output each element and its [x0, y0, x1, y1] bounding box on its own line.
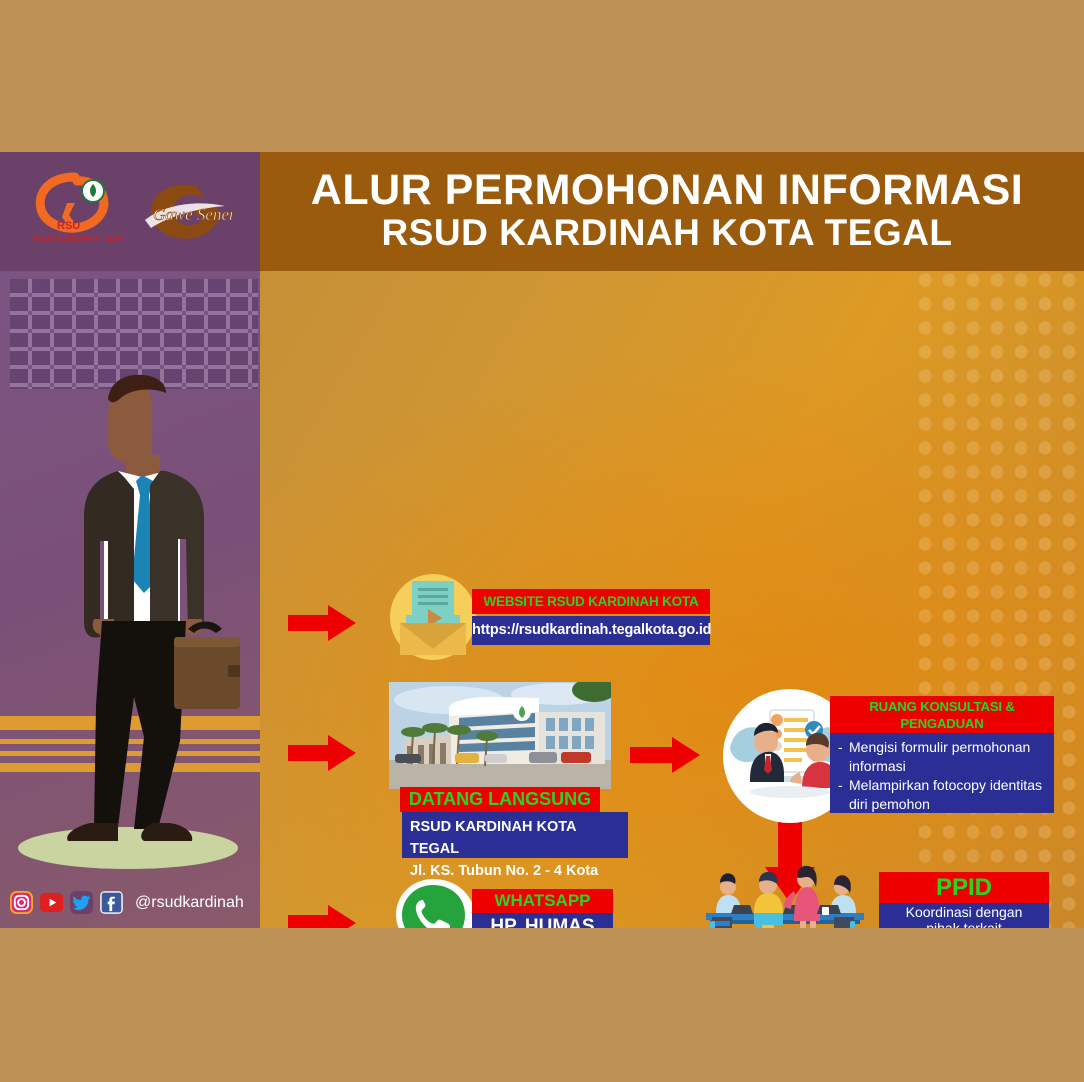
logo-panel: RSU RSUD KARDINAH TEGAL Gawe Seneng: [0, 152, 260, 271]
svg-text:Gawe Seneng: Gawe Seneng: [153, 205, 233, 224]
hospital-name: RSUD KARDINAH KOTA TEGAL: [410, 816, 622, 860]
poster-header: RSU RSUD KARDINAH TEGAL Gawe Seneng ALUR…: [0, 152, 1084, 271]
arrow-to-website: [288, 605, 358, 641]
team-meeting-illustration: [700, 861, 870, 928]
ppid-description: Koordinasi dengan pihak terkait: [879, 903, 1049, 928]
walking-businessman-illustration: [22, 371, 252, 851]
humas-label: HP. HUMAS: [472, 915, 613, 928]
left-illustration-panel: @rsudkardinah: [0, 271, 260, 928]
list-item: Mengisi formulir permohonan informasi: [838, 738, 1048, 776]
twitter-icon[interactable]: [70, 891, 93, 914]
arrow-to-whatsapp: [288, 905, 358, 928]
datang-langsung-label: DATANG LANGSUNG: [400, 787, 600, 812]
social-handle: @rsudkardinah: [135, 894, 244, 912]
arrow-to-konsultasi: [630, 737, 702, 773]
datang-langsung-info: RSUD KARDINAH KOTA TEGAL Jl. KS. Tubun N…: [402, 812, 628, 858]
arrow-to-datang-langsung: [288, 735, 358, 771]
whatsapp-icon: [392, 875, 474, 928]
whatsapp-label: WHATSAPP: [472, 889, 613, 913]
page-title: ALUR PERMOHONAN INFORMASI: [311, 169, 1023, 213]
ppid-title: PPID: [879, 872, 1049, 903]
konsultasi-requirements: Mengisi formulir permohonan informasi Me…: [830, 733, 1054, 813]
email-envelope-download-icon: [390, 571, 476, 663]
infographic-poster: RSU RSUD KARDINAH TEGAL Gawe Seneng ALUR…: [0, 152, 1084, 928]
social-media-bar: @rsudkardinah: [10, 891, 244, 914]
page-subtitle: RSUD KARDINAH KOTA TEGAL: [381, 213, 952, 254]
konsultasi-title: RUANG KONSULTASI & PENGADUAN BAGIAN INFO…: [830, 696, 1054, 733]
header-titles: ALUR PERMOHONAN INFORMASI RSUD KARDINAH …: [260, 152, 1084, 271]
ppid-desc-line2: pihak terkait: [879, 920, 1049, 928]
ppid-desc-line1: Koordinasi dengan: [879, 904, 1049, 920]
facebook-icon[interactable]: [100, 891, 123, 914]
youtube-icon[interactable]: [40, 891, 63, 914]
svg-text:RSUD KARDINAH TEGAL: RSUD KARDINAH TEGAL: [33, 234, 123, 243]
website-url[interactable]: https://rsudkardinah.tegalkota.go.id: [472, 616, 710, 645]
svg-text:RSU: RSU: [57, 220, 80, 232]
poster-body: @rsudkardinah: [0, 271, 1084, 928]
gawe-seneng-logo: Gawe Seneng: [137, 176, 233, 248]
rsud-kardinah-logo: RSU RSUD KARDINAH TEGAL: [27, 169, 123, 255]
konsultasi-title-line1: RUANG KONSULTASI & PENGADUAN: [830, 698, 1054, 732]
whatsapp-contact: HP. HUMAS 0821 3520 3939: [472, 913, 613, 928]
rsud-building-photo: [389, 682, 611, 789]
website-caption: WEBSITE RSUD KARDINAH KOTA TEGAL: [472, 589, 710, 614]
instagram-icon[interactable]: [10, 891, 33, 914]
dot-pattern-decoration: [916, 271, 1084, 928]
list-item: Melampirkan fotocopy identitas diri pemo…: [838, 776, 1048, 814]
